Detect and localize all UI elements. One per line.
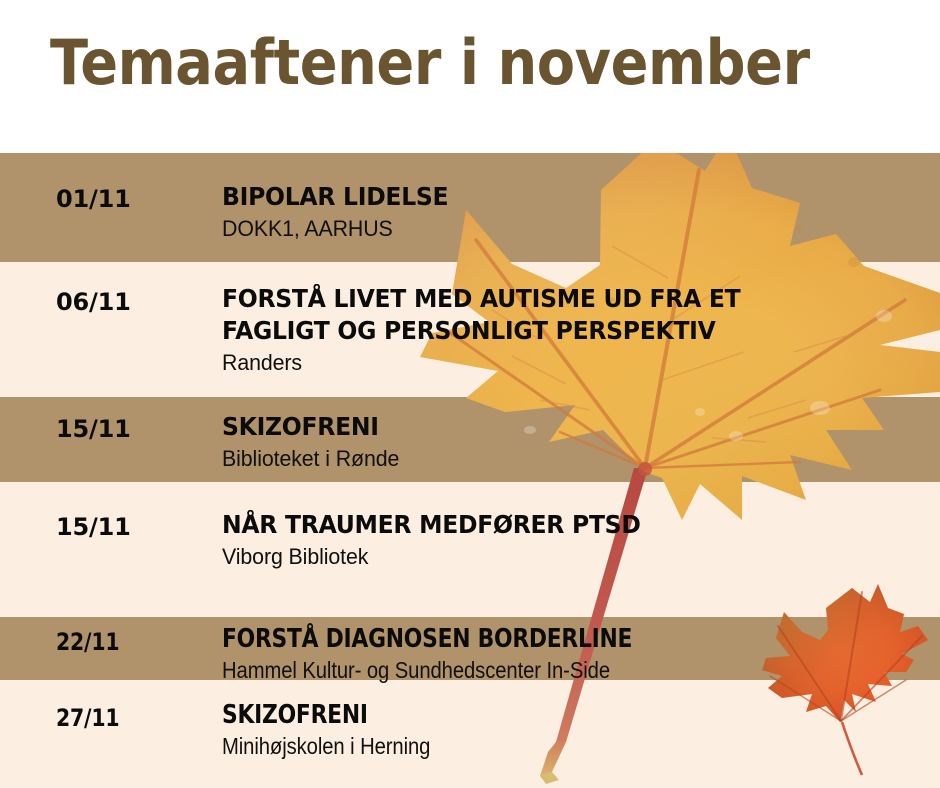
event-title: BIPOLAR LIDELSE [222, 181, 889, 213]
event-date: 15/11 [56, 513, 131, 541]
event-venue: DOKK1, AARHUS [222, 215, 911, 242]
event-body: BIPOLAR LIDELSE DOKK1, AARHUS [222, 181, 932, 242]
event-venue: Viborg Bibliotek [222, 543, 911, 570]
event-venue: Randers [222, 349, 911, 376]
event-date: 06/11 [56, 288, 131, 316]
list-item[interactable]: 15/11 NÅR TRAUMER MEDFØRER PTSD Viborg B… [0, 482, 940, 617]
event-body: SKIZOFRENI Minihøjskolen i Herning [222, 699, 932, 760]
list-item[interactable]: 27/11 SKIZOFRENI Minihøjskolen i Herning [0, 680, 940, 788]
event-title: NÅR TRAUMER MEDFØRER PTSD [222, 509, 889, 541]
title-area: Temaaftener i november [0, 0, 940, 153]
page-title: Temaaftener i november [50, 26, 810, 100]
list-item[interactable]: 01/11 BIPOLAR LIDELSE DOKK1, AARHUS [0, 153, 940, 262]
event-title: FORSTÅ LIVET MED AUTISME UD FRA ET FAGLI… [222, 283, 889, 347]
event-date: 01/11 [56, 185, 131, 213]
event-date: 27/11 [56, 704, 119, 732]
event-title: SKIZOFRENI [222, 411, 889, 443]
event-body: SKIZOFRENI Biblioteket i Rønde [222, 411, 932, 472]
list-item[interactable]: 22/11 FORSTÅ DIAGNOSEN BORDERLINE Hammel… [0, 617, 940, 680]
event-title: SKIZOFRENI [222, 699, 818, 731]
list-item[interactable]: 15/11 SKIZOFRENI Biblioteket i Rønde [0, 397, 940, 482]
event-body: NÅR TRAUMER MEDFØRER PTSD Viborg Bibliot… [222, 509, 932, 570]
event-date: 15/11 [56, 415, 131, 443]
event-venue: Minihøjskolen i Herning [222, 733, 847, 760]
event-title: FORSTÅ DIAGNOSEN BORDERLINE [222, 623, 818, 655]
event-body: FORSTÅ DIAGNOSEN BORDERLINE Hammel Kultu… [222, 623, 932, 684]
event-body: FORSTÅ LIVET MED AUTISME UD FRA ET FAGLI… [222, 283, 932, 376]
list-item[interactable]: 06/11 FORSTÅ LIVET MED AUTISME UD FRA ET… [0, 262, 940, 397]
event-venue: Biblioteket i Rønde [222, 445, 911, 472]
event-date: 22/11 [56, 628, 119, 656]
poster-canvas: Temaaftener i november 01/11 BIPOLAR LID… [0, 0, 940, 788]
